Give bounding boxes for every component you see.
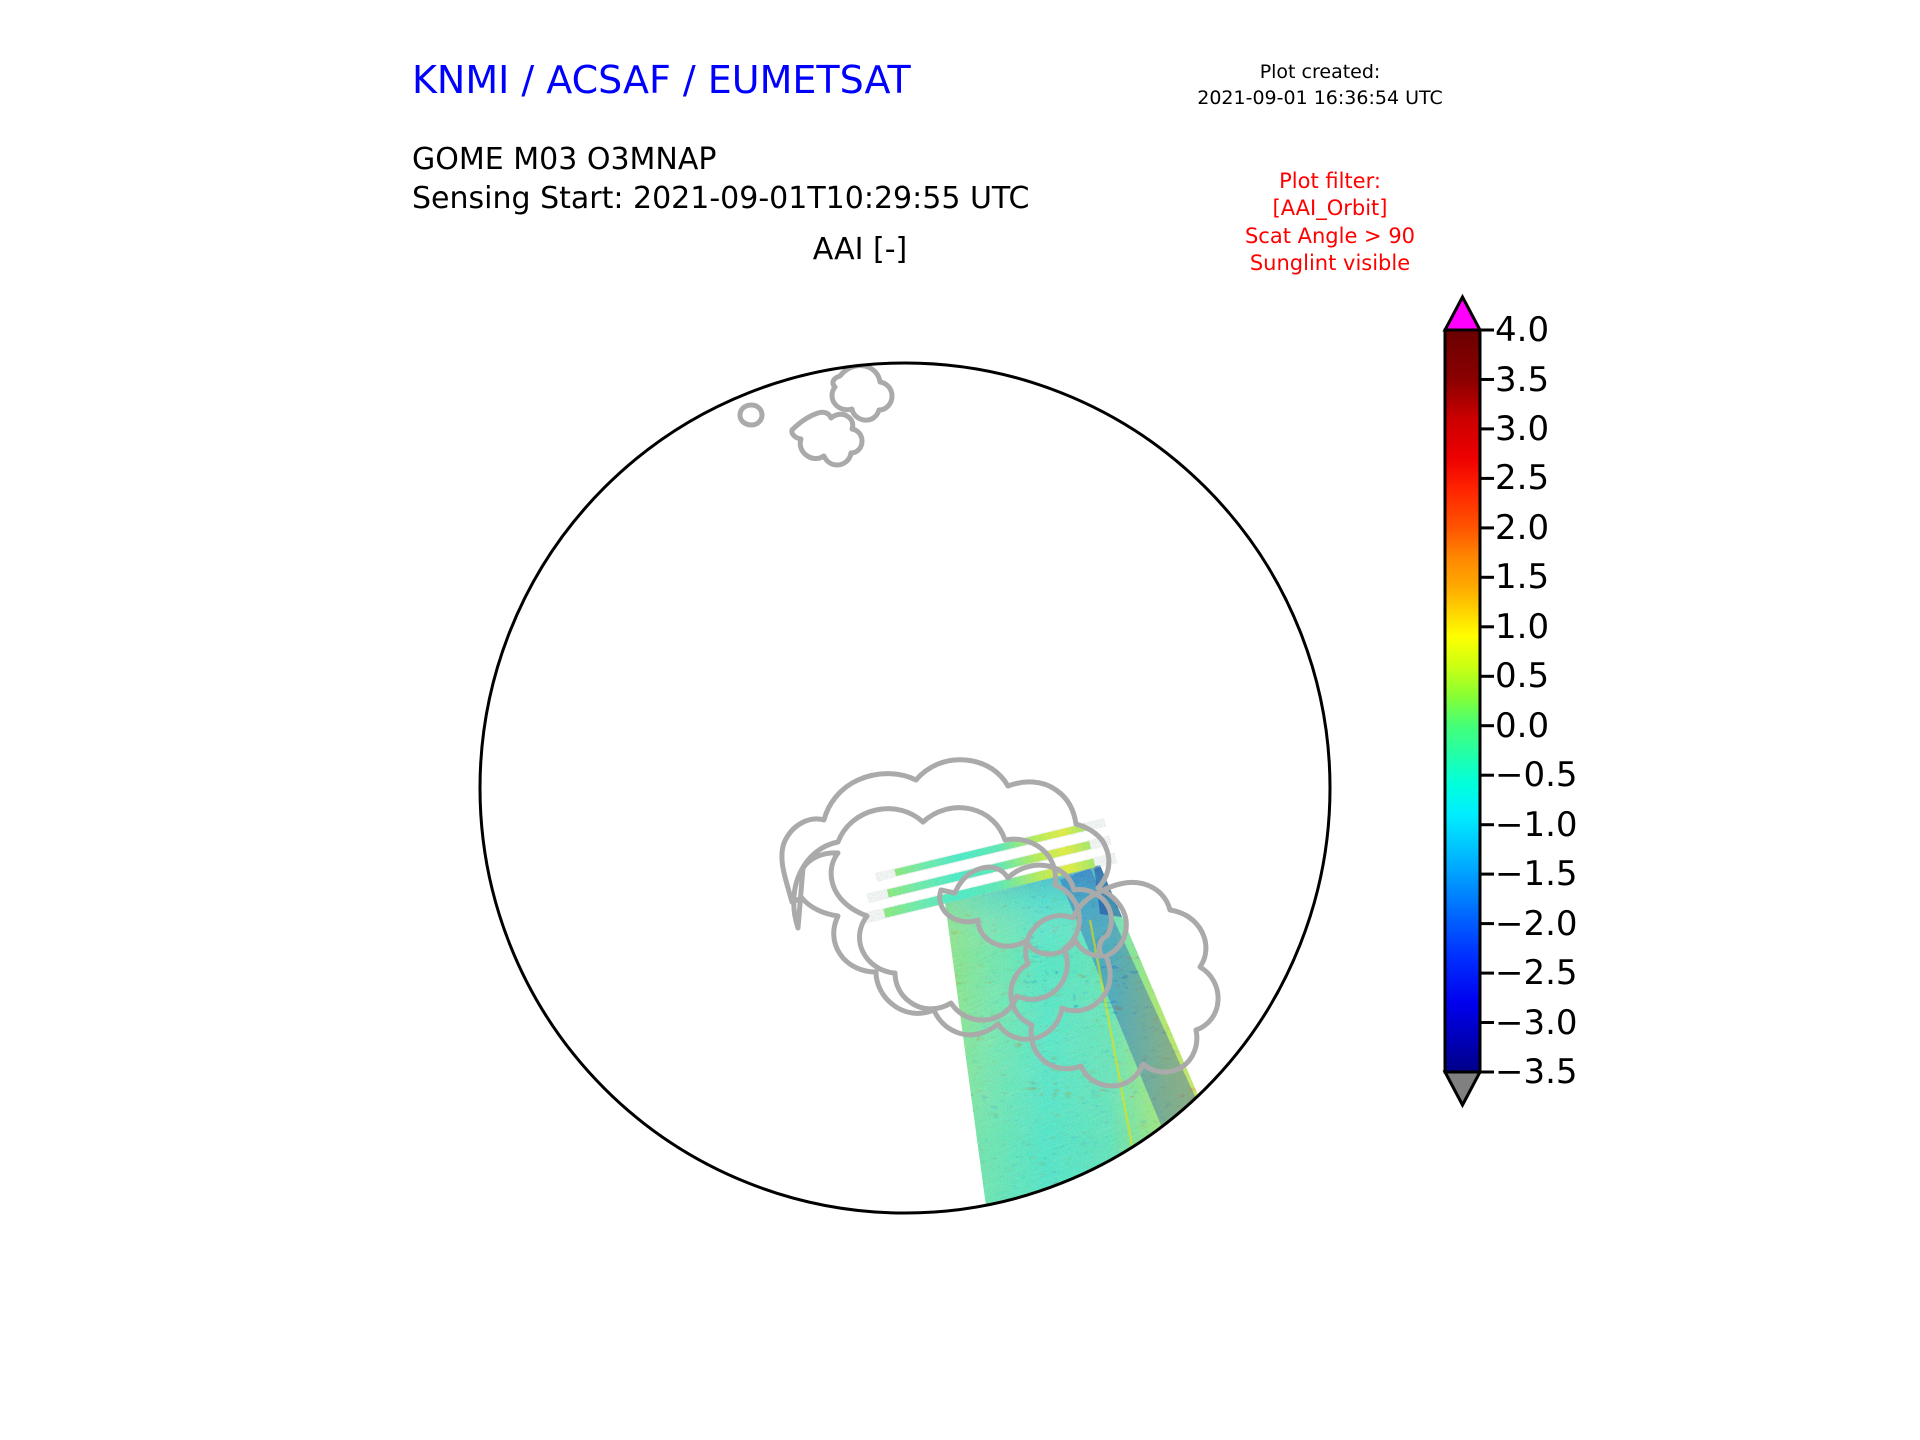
colorbar-tick-label: 2.0 [1495,511,1549,545]
plot-filter-line-2: Scat Angle > 90 [1180,223,1480,250]
plot-filter-line-1: [AAI_Orbit] [1180,195,1480,222]
plot-created-label: Plot created: [1160,60,1480,86]
colorbar-tick-label: −2.0 [1495,907,1578,941]
colorbar-tick-label: −1.5 [1495,857,1578,891]
sensing-start-line: Sensing Start: 2021-09-01T10:29:55 UTC [412,179,1029,218]
colorbar-tick-label: 3.0 [1495,412,1549,446]
plot-filter-line-3: Sunglint visible [1180,250,1480,277]
colorbar-tick-label: 3.5 [1495,363,1549,397]
polar-map-svg [400,280,1410,1300]
map-plot-area [400,280,1410,1300]
colorbar-tick-label: 1.5 [1495,560,1549,594]
colorbar-tick-label: −1.0 [1495,808,1578,842]
dataset-meta-block: GOME M03 O3MNAP Sensing Start: 2021-09-0… [412,140,1029,218]
colorbar-tick-label: 0.0 [1495,709,1549,743]
page-title: AAI [-] [640,232,1080,267]
colorbar-tick-label: 0.5 [1495,659,1549,693]
plot-filter-block: Plot filter: [AAI_Orbit] Scat Angle > 90… [1180,168,1480,277]
plot-filter-title: Plot filter: [1180,168,1480,195]
colorbar-tick-label: −0.5 [1495,758,1578,792]
plot-canvas: KNMI / ACSAF / EUMETSAT Plot created: 20… [0,0,1920,1440]
colorbar: 4.0 3.5 3.0 2.5 2.0 1.5 1.0 0.5 0.0 −0.5… [1435,285,1685,1115]
colorbar-tick-label: −2.5 [1495,956,1578,990]
colorbar-tick-label: 1.0 [1495,610,1549,644]
colorbar-tick-label: 2.5 [1495,461,1549,495]
instrument-product-line: GOME M03 O3MNAP [412,140,1029,179]
colorbar-over-range-arrow [1445,297,1480,330]
organization-title: KNMI / ACSAF / EUMETSAT [412,58,911,102]
colorbar-gradient-bar [1445,330,1480,1072]
colorbar-tick-label: 4.0 [1495,313,1549,347]
colorbar-under-range-arrow [1445,1072,1480,1105]
globe-background-disc [480,363,1330,1213]
plot-created-timestamp: 2021-09-01 16:36:54 UTC [1160,86,1480,112]
coastline-islet-west [462,913,488,936]
colorbar-ticks [1480,330,1494,1072]
colorbar-tick-label: −3.0 [1495,1006,1578,1040]
plot-created-block: Plot created: 2021-09-01 16:36:54 UTC [1160,60,1480,111]
colorbar-tick-label: −3.5 [1495,1055,1578,1089]
